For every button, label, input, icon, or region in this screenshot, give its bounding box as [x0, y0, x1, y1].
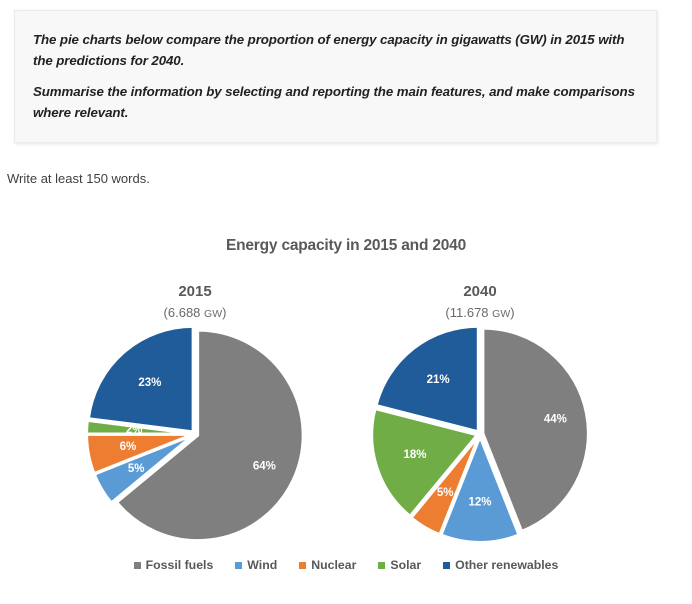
legend-swatch-icon: [134, 562, 141, 569]
legend-item-label: Wind: [247, 558, 277, 572]
pie-slice-label-other-renewables: 23%: [138, 377, 161, 389]
legend-item-nuclear[interactable]: Nuclear: [299, 558, 356, 572]
pie-svg-2015: 64%5%6%2%23%: [45, 323, 345, 548]
energy-capacity-pie-figure: Energy capacity in 2015 and 2040 2015 (6…: [0, 210, 692, 604]
legend-item-fossil-fuels[interactable]: Fossil fuels: [134, 558, 214, 572]
pie-slice-label-nuclear: 6%: [120, 441, 137, 453]
chart-legend: Fossil fuelsWindNuclearSolarOther renewa…: [0, 558, 692, 572]
task-prompt-paragraph-1: The pie charts below compare the proport…: [33, 29, 641, 71]
pie-svg-2040: 44%12%5%18%21%: [330, 323, 630, 548]
legend-item-label: Nuclear: [311, 558, 356, 572]
legend-swatch-icon: [378, 562, 385, 569]
legend-item-label: Other renewables: [455, 558, 558, 572]
legend-item-wind[interactable]: Wind: [235, 558, 277, 572]
pie-year-label-2040: 2040: [330, 283, 630, 300]
legend-swatch-icon: [443, 562, 450, 569]
pie-total-value-2015: (6.688 GW): [164, 305, 227, 320]
legend-item-label: Solar: [390, 558, 421, 572]
chart-title: Energy capacity in 2015 and 2040: [0, 237, 692, 255]
pie-slice-label-nuclear: 5%: [437, 487, 454, 499]
legend-swatch-icon: [235, 562, 242, 569]
legend-swatch-icon: [299, 562, 306, 569]
pie-slice-label-solar: 18%: [404, 449, 427, 461]
word-count-note: Write at least 150 words.: [7, 171, 150, 186]
pie-slice-label-other-renewables: 21%: [427, 374, 450, 386]
pie-slice-label-fossil-fuels: 64%: [253, 461, 276, 473]
task-prompt-box: The pie charts below compare the proport…: [14, 10, 657, 143]
pie-slice-label-wind: 12%: [468, 496, 491, 508]
legend-item-other-renewables[interactable]: Other renewables: [443, 558, 558, 572]
legend-item-solar[interactable]: Solar: [378, 558, 421, 572]
pie-total-value-2040: (11.678 GW): [445, 305, 514, 320]
legend-item-label: Fossil fuels: [146, 558, 214, 572]
pie-total-label-2040: (11.678 GW): [330, 305, 630, 320]
pie-total-label-2015: (6.688 GW): [45, 305, 345, 320]
task-prompt-paragraph-2: Summarise the information by selecting a…: [33, 81, 641, 123]
pie-slice-label-fossil-fuels: 44%: [544, 414, 567, 426]
pie-year-label-2015: 2015: [45, 283, 345, 300]
pie-slice-label-wind: 5%: [128, 463, 145, 475]
